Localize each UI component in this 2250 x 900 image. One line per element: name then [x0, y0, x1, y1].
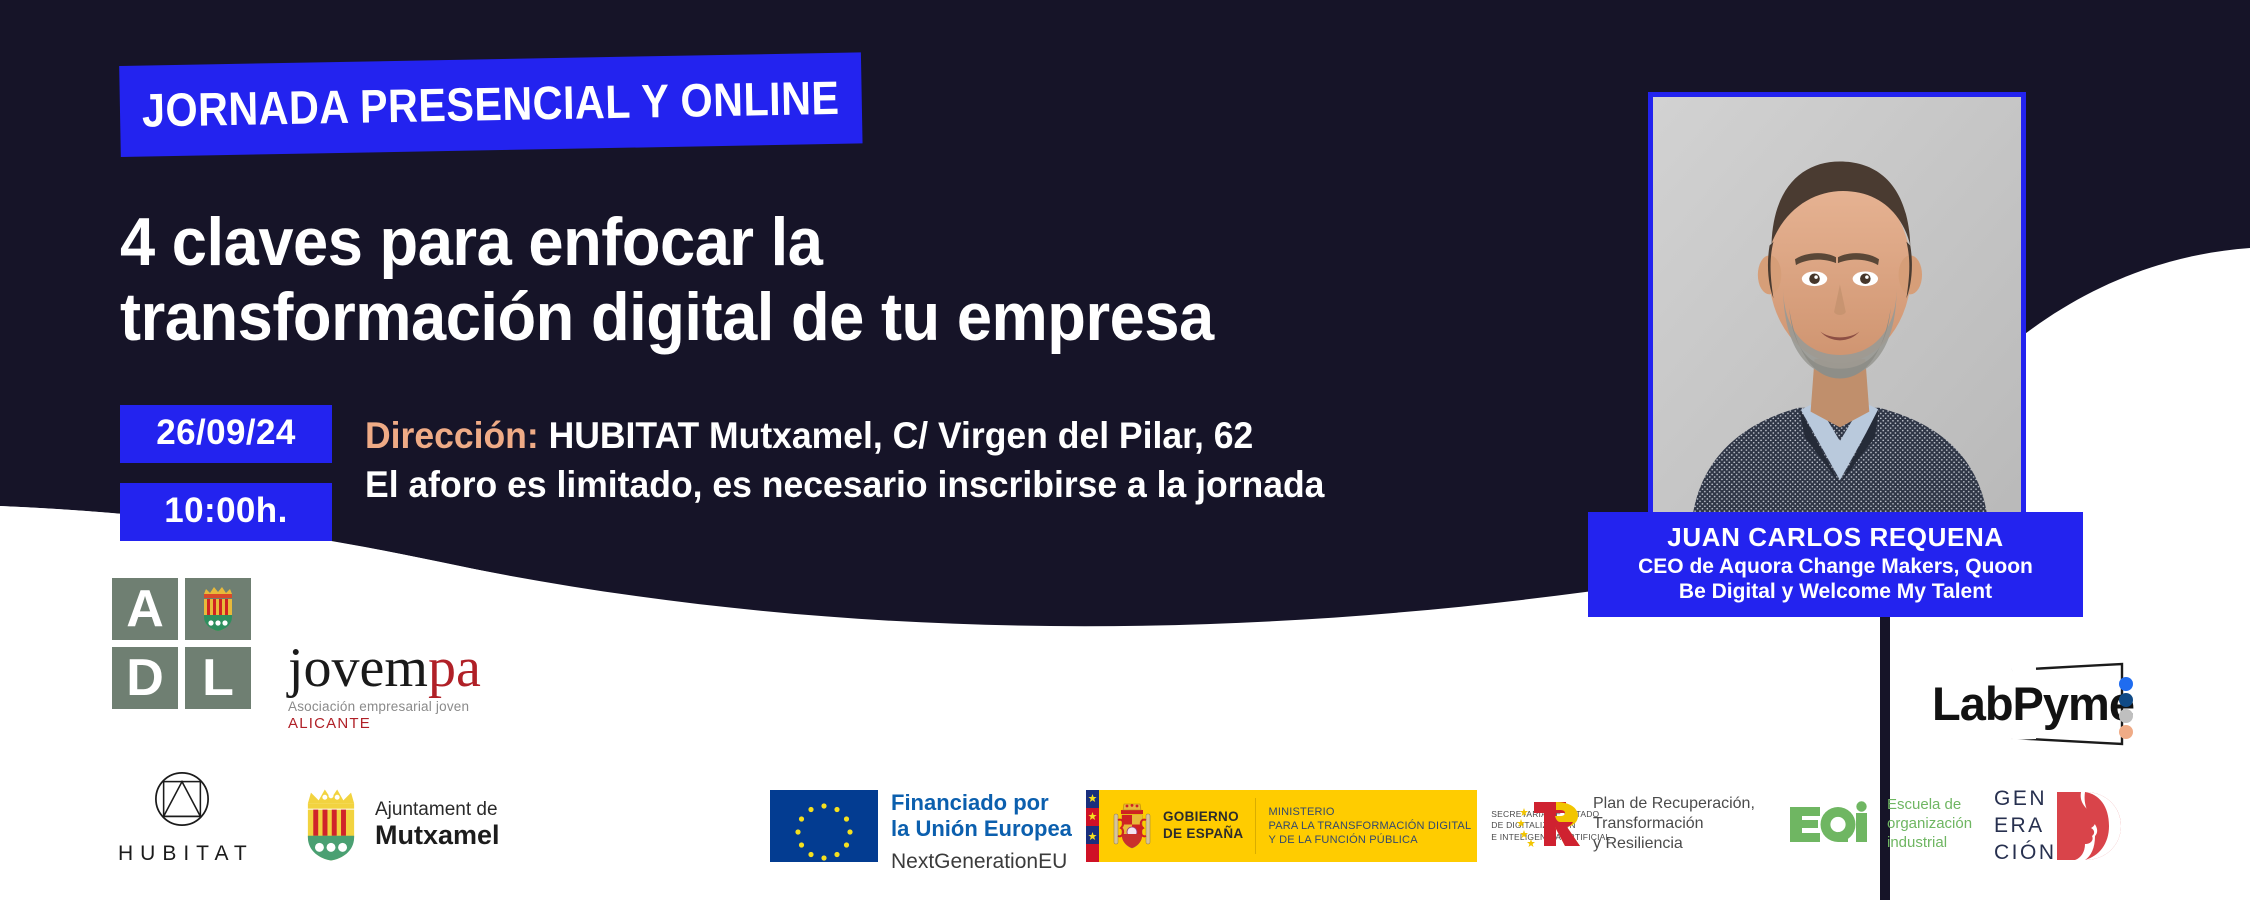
eu-line1: Financiado por — [891, 790, 1072, 816]
ministerio-line1: MINISTERIO — [1268, 805, 1471, 819]
page-title-line1: 4 claves para enfocar la — [120, 205, 1422, 280]
svg-text:LabPyme: LabPyme — [1932, 677, 2134, 730]
generacion-line1: GEN — [1994, 786, 2057, 813]
plan-line3: y Resiliencia — [1593, 834, 1755, 854]
generacion-d-face-icon — [2051, 786, 2125, 866]
speaker-portrait — [1653, 97, 2021, 527]
logo-labpyme: LabPyme — [1926, 660, 2146, 750]
eoi-line1: Escuela de — [1887, 796, 1972, 815]
eu-line2: la Unión Europea — [891, 816, 1072, 842]
adl-caption: Agencia de Desarrollo Local - Mutxamel — [112, 715, 251, 746]
gobierno-line1: GOBIERNO — [1163, 809, 1243, 826]
event-banner: JORNADA PRESENCIAL Y ONLINE 4 claves par… — [0, 0, 2250, 900]
adl-letter-a: A — [126, 583, 164, 635]
adl-cell-a: A — [112, 578, 178, 640]
logo-hubitat: HUBITAT — [112, 770, 252, 866]
plan-text: Plan de Recuperación, Transformación y R… — [1593, 794, 1755, 853]
speaker-photo-frame — [1648, 92, 2026, 532]
logo-adl: A D — [112, 578, 252, 746]
tr-monogram-icon — [1516, 794, 1582, 854]
logo-european-union: Financiado por la Unión Europea NextGene… — [770, 790, 1072, 874]
eu-line3: NextGenerationEU — [891, 850, 1072, 874]
ajuntament-line2: Mutxamel — [375, 820, 500, 851]
logo-generacion-d: GEN ERA CIÓN — [1994, 786, 2125, 867]
logo-eoi: Escuela de organización industrial — [1786, 796, 1972, 852]
eu-stars-strip-icon — [1086, 826, 1099, 862]
mutxamel-crest-icon — [300, 788, 362, 862]
ajuntament-line1: Ajuntament de — [375, 799, 500, 821]
adl-cell-d: D — [112, 647, 178, 709]
event-capacity-note: El aforo es limitado, es necesario inscr… — [365, 461, 1324, 510]
gobierno-separator — [1255, 798, 1256, 854]
adl-cell-crest — [185, 578, 251, 640]
eu-flag-icon — [770, 790, 878, 862]
event-address-label: Dirección: — [365, 415, 539, 456]
spain-coat-of-arms-icon — [1109, 798, 1155, 854]
adl-grid: A D — [112, 578, 252, 709]
page-title: 4 claves para enfocar la transformación … — [120, 205, 1520, 356]
speaker-nameplate: JUAN CARLOS REQUENA CEO de Aquora Change… — [1588, 512, 2083, 617]
eu-text: Financiado por la Unión Europea NextGene… — [891, 790, 1072, 874]
adl-letter-d: D — [126, 652, 164, 704]
jovempa-word-red: pa — [428, 637, 481, 699]
ministerio-text: MINISTERIO PARA LA TRANSFORMACIÓN DIGITA… — [1268, 805, 1471, 848]
event-date-badge: 26/09/24 — [120, 405, 332, 463]
generacion-text: GEN ERA CIÓN — [1994, 786, 2057, 867]
gobierno-edge-blue2 — [1086, 826, 1099, 844]
eoi-text: Escuela de organización industrial — [1887, 796, 1972, 852]
gobierno-line2: DE ESPAÑA — [1163, 826, 1243, 843]
speaker-role-line2: Be Digital y Welcome My Talent — [1588, 579, 2083, 605]
jovempa-word-dark: jovem — [288, 637, 428, 699]
logo-jovempa: jovempa Asociación empresarial joven ALI… — [288, 642, 503, 732]
page-title-line2: transformación digital de tu empresa — [120, 280, 1422, 355]
ministerio-line2: PARA LA TRANSFORMACIÓN DIGITAL — [1268, 819, 1471, 833]
ministerio-line3: Y DE LA FUNCIÓN PÚBLICA — [1268, 833, 1471, 847]
speaker-name: JUAN CARLOS REQUENA — [1588, 521, 2083, 554]
plan-line1: Plan de Recuperación, — [1593, 794, 1755, 814]
ajuntament-text: Ajuntament de Mutxamel — [375, 799, 500, 852]
generacion-line2: ERA — [1994, 813, 2057, 840]
hubitat-name: HUBITAT — [118, 842, 252, 866]
eu-stars-strip-icon — [1086, 790, 1099, 826]
labpyme-wordmark-icon: LabPyme — [1926, 660, 2146, 750]
generacion-line3: CIÓN — [1994, 840, 2057, 867]
eoi-wordmark-icon — [1786, 801, 1878, 847]
mutxamel-crest-icon — [198, 585, 238, 633]
adl-letter-l: L — [202, 652, 234, 704]
jovempa-city: ALICANTE — [288, 715, 503, 732]
gobierno-edge-blue — [1086, 790, 1099, 808]
jovempa-subtitle: Asociación empresarial joven — [288, 699, 503, 714]
eoi-line3: industrial — [1887, 834, 1972, 853]
logo-ajuntament-mutxamel: Ajuntament de Mutxamel — [300, 788, 500, 862]
adl-caption-line2: Local - Mutxamel — [112, 731, 251, 747]
adl-caption-line1: Agencia de Desarrollo — [112, 715, 251, 731]
event-address-value: HUBITAT Mutxamel, C/ Virgen del Pilar, 6… — [549, 415, 1254, 456]
gobierno-body: GOBIERNO DE ESPAÑA MINISTERIO PARA LA TR… — [1099, 790, 1477, 862]
gobierno-text: GOBIERNO DE ESPAÑA — [1163, 809, 1243, 843]
adl-cell-l: L — [185, 647, 251, 709]
eoi-line2: organización — [1887, 815, 1972, 834]
event-details: Dirección: HUBITAT Mutxamel, C/ Virgen d… — [365, 412, 1364, 510]
circle-square-triangle-icon — [153, 770, 211, 828]
gobierno-edge-strip — [1086, 790, 1099, 862]
event-type-tag: JORNADA PRESENCIAL Y ONLINE — [119, 51, 963, 157]
plan-line2: Transformación — [1593, 814, 1755, 834]
speaker-role-line1: CEO de Aquora Change Makers, Quoon — [1588, 554, 2083, 580]
jovempa-wordmark: jovempa — [288, 642, 503, 695]
event-time-badge: 10:00h. — [120, 483, 332, 541]
event-type-tag-label: JORNADA PRESENCIAL Y ONLINE — [119, 52, 862, 157]
logo-plan-recuperacion: Plan de Recuperación, Transformación y R… — [1516, 794, 1755, 854]
event-address-row: Dirección: HUBITAT Mutxamel, C/ Virgen d… — [365, 412, 1324, 461]
